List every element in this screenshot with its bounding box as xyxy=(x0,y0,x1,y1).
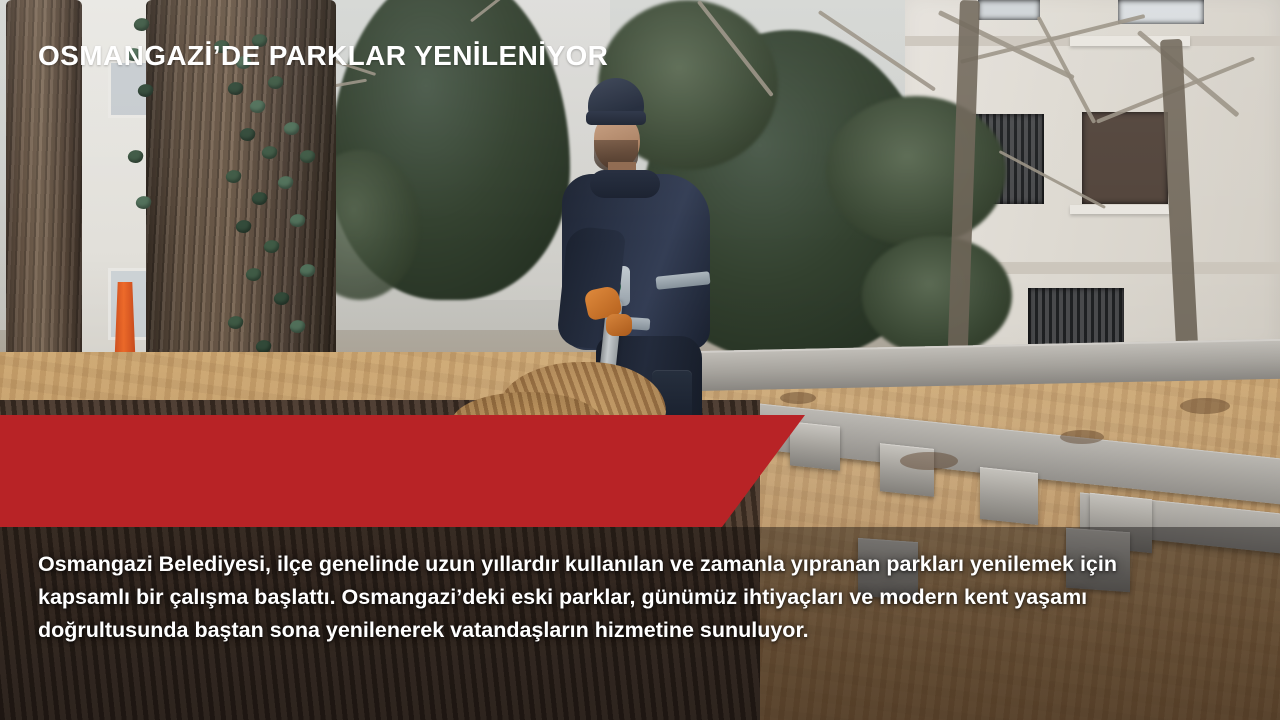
curb-stone xyxy=(980,467,1038,525)
tree-foliage xyxy=(826,96,1006,246)
building-window-ground xyxy=(1028,288,1124,350)
beanie-fold xyxy=(586,111,646,125)
summary-line-1: Osmangazi Belediyesi, ilçe genelinde uzu… xyxy=(38,548,1250,581)
summary-text: Osmangazi Belediyesi, ilçe genelinde uzu… xyxy=(38,548,1250,647)
building-window xyxy=(1082,112,1168,204)
summary-line-3: doğrultusunda baştan sona yenilenerek va… xyxy=(38,614,1250,647)
soil-clump xyxy=(900,452,958,470)
news-card: OSMANGAZİ’DE PARKLAR YENİLENİYOR Osmanga… xyxy=(0,0,1280,720)
headline-banner-fill xyxy=(0,415,805,527)
curb-stone xyxy=(790,421,840,470)
building-window xyxy=(978,0,1040,20)
work-glove xyxy=(606,314,632,336)
soil-clump xyxy=(780,392,816,404)
headline-banner xyxy=(0,415,805,527)
summary-line-2: kapsamlı bir çalışma başlattı. Osmangazi… xyxy=(38,581,1250,614)
soil-clump xyxy=(1060,430,1104,444)
soil-clump xyxy=(1180,398,1230,414)
window-ledge xyxy=(1070,205,1170,214)
jacket-collar xyxy=(590,170,660,198)
tree-foliage xyxy=(862,236,1012,356)
headline-title: OSMANGAZİ’DE PARKLAR YENİLENİYOR xyxy=(38,0,608,112)
